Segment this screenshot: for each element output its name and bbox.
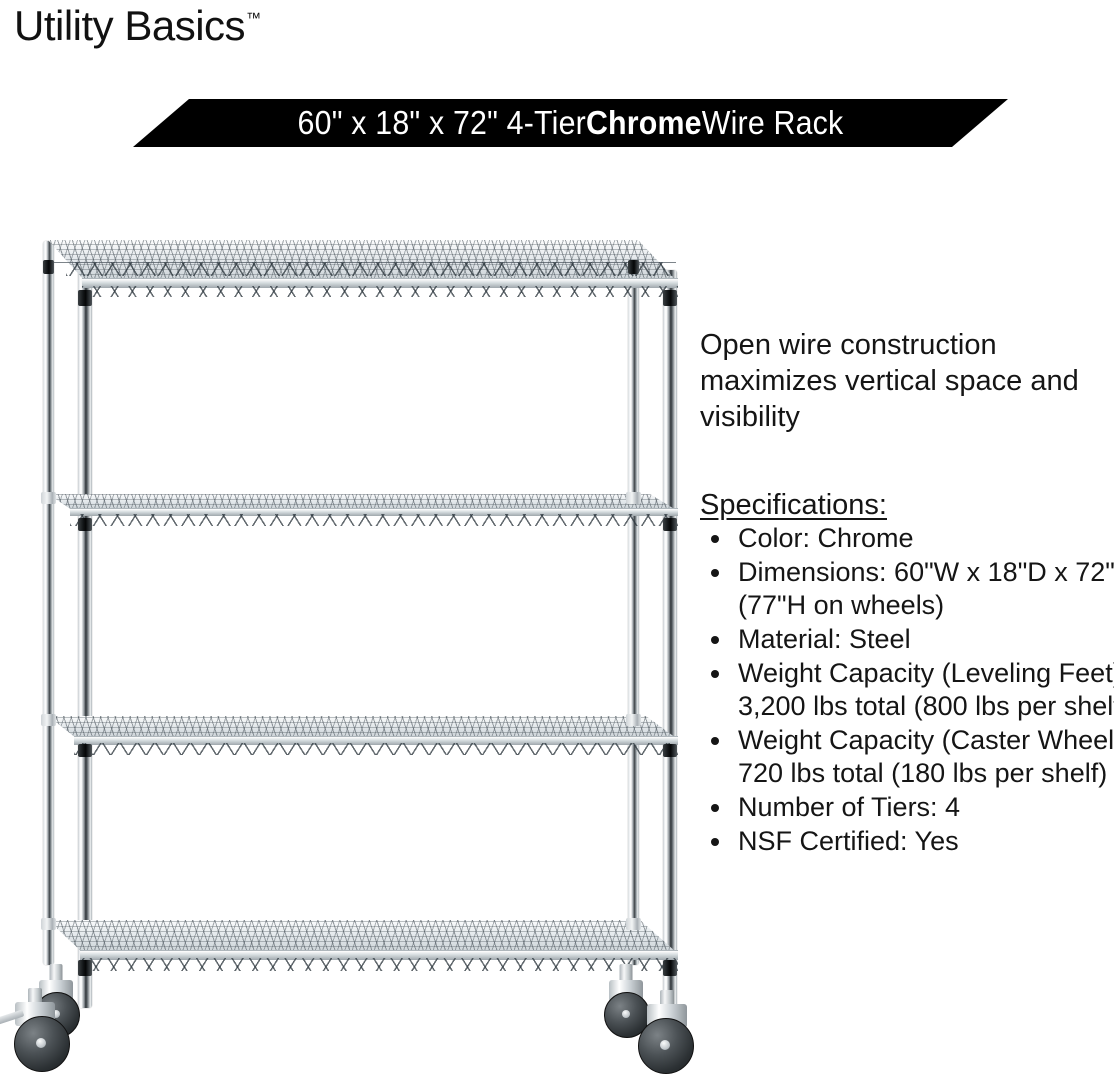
post-rear-left [43,241,54,965]
collar-shelf2-rear-right [626,492,641,504]
shelf-tier-3 [48,716,676,756]
caster-front-left [0,988,72,1072]
spec-item-material: Material: Steel [734,623,1114,656]
collar-shelf1-rear-left [43,260,54,274]
brand-logo: Utility Basics™ [14,2,261,50]
collar-shelf3-rear-left [41,714,56,726]
specifications-heading: Specifications: [700,489,887,522]
post-front-right [663,270,677,1008]
shelf-3-deck [48,716,676,738]
spec-item-nsf: NSF Certified: Yes [734,825,1114,858]
shelf-1-wire-line [48,262,676,263]
collar-shelf1-rear-right [628,260,639,274]
post-front-left [78,270,92,1008]
shelf-2-truss [70,514,678,526]
collar-shelf2-front-left [78,518,92,531]
caster-front-left-hub [36,1038,46,1048]
shelf-4-truss [80,958,678,971]
collar-shelf4-rear-right [626,918,641,930]
shelf-tier-4 [48,920,676,972]
caster-rear-right-hub [622,1010,630,1018]
title-banner-shape [133,99,1008,147]
spec-item-color: Color: Chrome [734,522,1114,555]
collar-shelf4-front-right [663,960,677,976]
product-image-wire-rack [0,228,700,1072]
spec-item-dimensions: Dimensions: 60"W x 18"D x 72"H (77"H on … [734,556,1114,622]
shelf-1-lower-truss [82,286,678,297]
trademark-symbol: ™ [246,10,261,27]
shelf-tier-1 [48,240,676,298]
collar-shelf1-front-right [663,290,677,306]
shelf-4-deck [48,920,676,952]
post-rear-right [628,241,639,965]
brand-name: Utility Basics [14,2,245,49]
feature-headline: Open wire construction maximizes vertica… [700,327,1110,435]
spec-item-capacity-leveling: Weight Capacity (Leveling Feet): 3,200 l… [734,657,1114,723]
shelf-1-truss [66,262,672,276]
specifications-list: Color: Chrome Dimensions: 60"W x 18"D x … [700,522,1114,859]
caster-front-right [630,990,710,1074]
collar-shelf1-front-left [78,290,92,306]
spec-item-capacity-casters: Weight Capacity (Caster Wheels): 720 lbs… [734,724,1114,790]
collar-shelf2-front-right [663,518,677,531]
collar-shelf4-rear-left [41,918,56,930]
shelf-3-wire-mesh [48,716,676,738]
collar-shelf2-rear-left [41,492,56,504]
shelf-3-truss [74,743,678,755]
spec-item-tiers: Number of Tiers: 4 [734,791,1114,824]
caster-front-right-hub [660,1040,670,1050]
shelf-4-wire-mesh [48,920,676,952]
shelf-tier-2 [48,494,676,528]
collar-shelf3-front-right [663,744,677,757]
collar-shelf3-front-left [78,744,92,757]
collar-shelf3-rear-right [626,714,641,726]
